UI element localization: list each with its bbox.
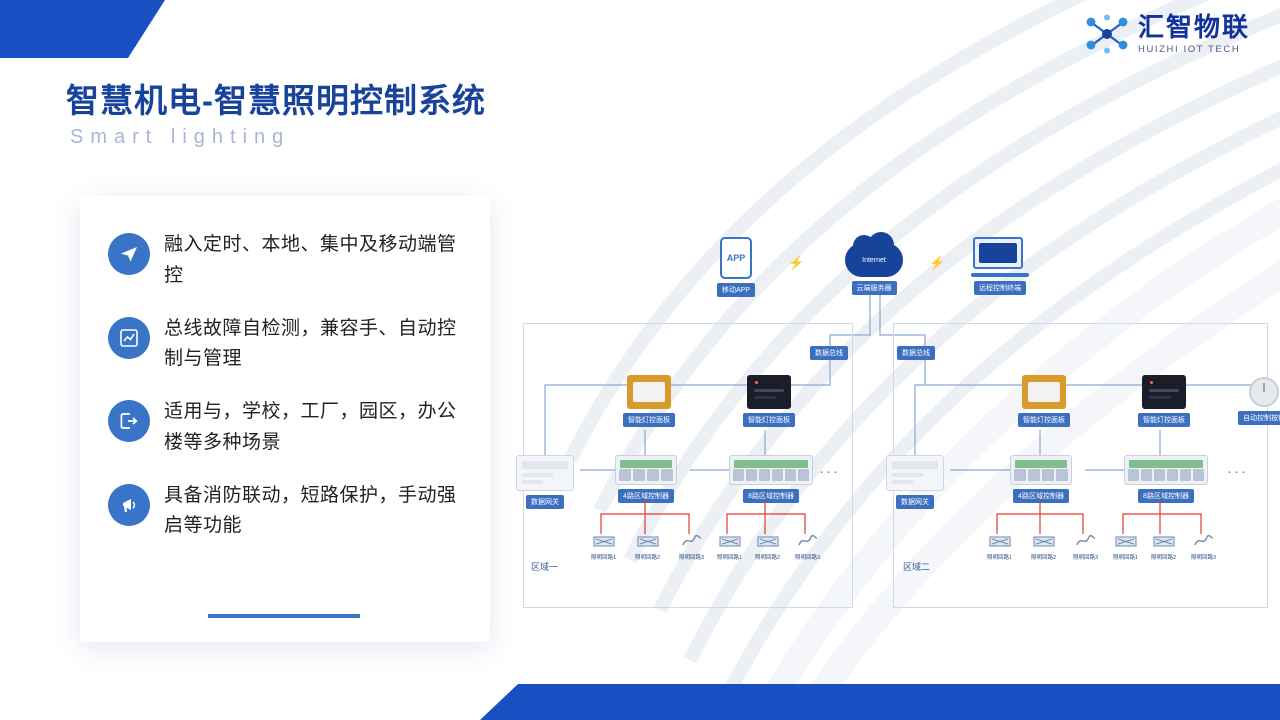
wireless-bolt-icon-left: ⚡: [788, 255, 804, 271]
zone2-panel-2-label: 智能灯控面板: [1138, 413, 1190, 427]
megaphone-icon: [108, 484, 150, 526]
feature-card: 融入定时、本地、集中及移动端管控 总线故障自检测，兼容手、自动控制与管理 适用与…: [80, 196, 490, 642]
zone2-circuit-4-label: 照明回路1: [1113, 553, 1138, 561]
zone2-circuit-2-label: 照明回路2: [1031, 553, 1056, 561]
light-panel-amber-icon: [627, 375, 671, 409]
zone2-circuit-1-label: 照明回路1: [987, 553, 1012, 561]
zone2-panel-1-label: 智能灯控面板: [1018, 413, 1070, 427]
label-mobile-app: 移动APP: [717, 283, 755, 297]
zone1-panel-1-label: 智能灯控面板: [623, 413, 675, 427]
ceiling-light-icon: [1153, 533, 1175, 549]
zone2-panel-2[interactable]: 智能灯控面板: [1138, 375, 1190, 427]
zone2-circuit-5-label: 照明回路2: [1151, 553, 1176, 561]
gateway-device-icon: [886, 455, 944, 491]
controller-4ch-icon: [615, 455, 677, 485]
exit-arrow-icon: [108, 400, 150, 442]
zone2-panel-3-label: 自动控制按钮: [1238, 411, 1280, 425]
zone2-controller-2[interactable]: 8路区域控制器: [1124, 455, 1208, 503]
system-architecture-diagram: APP 移动APP Internet 云端服务器 远程控制终端 ⚡ ⚡ 数据总线…: [505, 215, 1270, 615]
zone2-circuit-4: 照明回路1: [1113, 533, 1138, 561]
laptop-icon: [973, 237, 1027, 277]
zone2-circuit-1: 照明回路1: [987, 533, 1012, 561]
logo-name-cn: 汇智物联: [1138, 14, 1250, 40]
zone2-circuit-5: 照明回路2: [1151, 533, 1176, 561]
feature-text-2: 总线故障自检测，兼容手、自动控制与管理: [164, 314, 464, 376]
cloud-badge-text: Internet: [862, 257, 886, 264]
label-cloud-server: 云端服务器: [852, 281, 897, 295]
molecule-icon: [1084, 14, 1130, 54]
feature-item-2: 总线故障自检测，兼容手、自动控制与管理: [108, 314, 464, 376]
phone-icon: APP: [720, 237, 752, 279]
feature-item-3: 适用与，学校，工厂，园区，办公楼等多种场景: [108, 397, 464, 459]
fluorescent-tube-icon: [1193, 533, 1215, 549]
paper-plane-icon: [108, 233, 150, 275]
zone1-panel-2-label: 智能灯控面板: [743, 413, 795, 427]
top-left-accent-flag: [0, 0, 165, 58]
zone1-more-dots: ···: [819, 463, 840, 480]
zone2-controller-1[interactable]: 4路区域控制器: [1010, 455, 1072, 503]
feature-item-4: 具备消防联动，短路保护，手动强启等功能: [108, 481, 464, 543]
ceiling-light-icon: [1033, 533, 1055, 549]
cloud-icon: Internet: [845, 243, 903, 277]
zone1-panel-1[interactable]: 智能灯控面板: [623, 375, 675, 427]
feature-text-3: 适用与，学校，工厂，园区，办公楼等多种场景: [164, 397, 464, 459]
zone2-circuit-2: 照明回路2: [1031, 533, 1056, 561]
zone2-circuit-3: 照明回路3: [1073, 533, 1098, 561]
wireless-bolt-icon-right: ⚡: [929, 255, 945, 271]
zone2-circuit-6-label: 照明回路3: [1191, 553, 1216, 561]
zone2-auto-knob[interactable]: 自动控制按钮: [1238, 377, 1280, 425]
gateway-device-icon: [516, 455, 574, 491]
zone2-circuit-6: 照明回路3: [1191, 533, 1216, 561]
logo-name-en: HUIZHI IOT TECH: [1138, 45, 1250, 55]
feature-item-1: 融入定时、本地、集中及移动端管控: [108, 230, 464, 292]
zone1-controller-2[interactable]: 8路区域控制器: [729, 455, 813, 503]
node-mobile-app[interactable]: APP 移动APP: [717, 237, 755, 297]
light-panel-dark-icon: [1142, 375, 1186, 409]
chart-line-icon: [108, 317, 150, 359]
ceiling-light-icon: [989, 533, 1011, 549]
feature-text-4: 具备消防联动，短路保护，手动强启等功能: [164, 481, 464, 543]
controller-8ch-icon: [729, 455, 813, 485]
feature-text-1: 融入定时、本地、集中及移动端管控: [164, 230, 464, 292]
brand-logo: 汇智物联 HUIZHI IOT TECH: [1084, 14, 1250, 55]
rotary-knob-icon: [1249, 377, 1279, 407]
bottom-right-accent-flag: [480, 684, 1280, 720]
zone2-more-dots: ···: [1227, 463, 1248, 480]
label-remote-terminal: 远程控制终端: [974, 281, 1026, 295]
card-underline: [208, 614, 360, 618]
ceiling-light-icon: [1115, 533, 1137, 549]
light-panel-amber-icon: [1022, 375, 1066, 409]
node-remote-terminal[interactable]: 远程控制终端: [973, 237, 1027, 295]
zone2-panel-1[interactable]: 智能灯控面板: [1018, 375, 1070, 427]
app-badge-text: APP: [727, 253, 746, 263]
fluorescent-tube-icon: [1075, 533, 1097, 549]
page-subtitle: Smart lighting: [70, 126, 290, 149]
zone2-circuit-3-label: 照明回路3: [1073, 553, 1098, 561]
controller-8ch-icon: [1124, 455, 1208, 485]
light-panel-dark-icon: [747, 375, 791, 409]
zone1-controller-1[interactable]: 4路区域控制器: [615, 455, 677, 503]
zone1-panel-2[interactable]: 智能灯控面板: [743, 375, 795, 427]
page-title: 智慧机电-智慧照明控制系统: [66, 74, 486, 122]
controller-4ch-icon: [1010, 455, 1072, 485]
node-cloud-server[interactable]: Internet 云端服务器: [845, 243, 903, 295]
